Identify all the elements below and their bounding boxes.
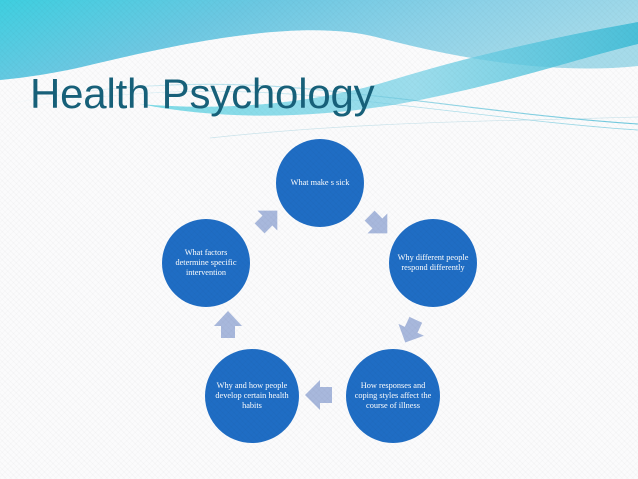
cycle-node-label: How responses and coping styles affect t… <box>346 381 440 410</box>
slide-canvas: Health Psychology W <box>0 0 638 479</box>
cycle-node-why-people-develop-health-habits[interactable]: Why and how people develop certain healt… <box>205 349 299 443</box>
arrow-left-to-top <box>250 201 287 238</box>
page-title: Health Psychology <box>30 70 374 118</box>
arrow-right-to-br <box>393 314 429 348</box>
cycle-node-label: Why different people respond differently <box>389 253 477 273</box>
arrow-br-to-bl <box>305 380 332 410</box>
cycle-node-label: Why and how people develop certain healt… <box>205 381 299 410</box>
arrow-top-to-right <box>360 206 397 243</box>
cycle-node-why-different-people-respond[interactable]: Why different people respond differently <box>389 219 477 307</box>
cycle-node-how-responses-affect-illness[interactable]: How responses and coping styles affect t… <box>346 349 440 443</box>
arrow-bl-to-left <box>214 311 242 338</box>
cycle-node-label: What make s sick <box>285 178 356 188</box>
cycle-node-label: What factors determine specific interven… <box>162 248 250 277</box>
cycle-node-what-factors-determine-intervention[interactable]: What factors determine specific interven… <box>162 219 250 307</box>
cycle-node-what-makes-sick[interactable]: What make s sick <box>276 139 364 227</box>
